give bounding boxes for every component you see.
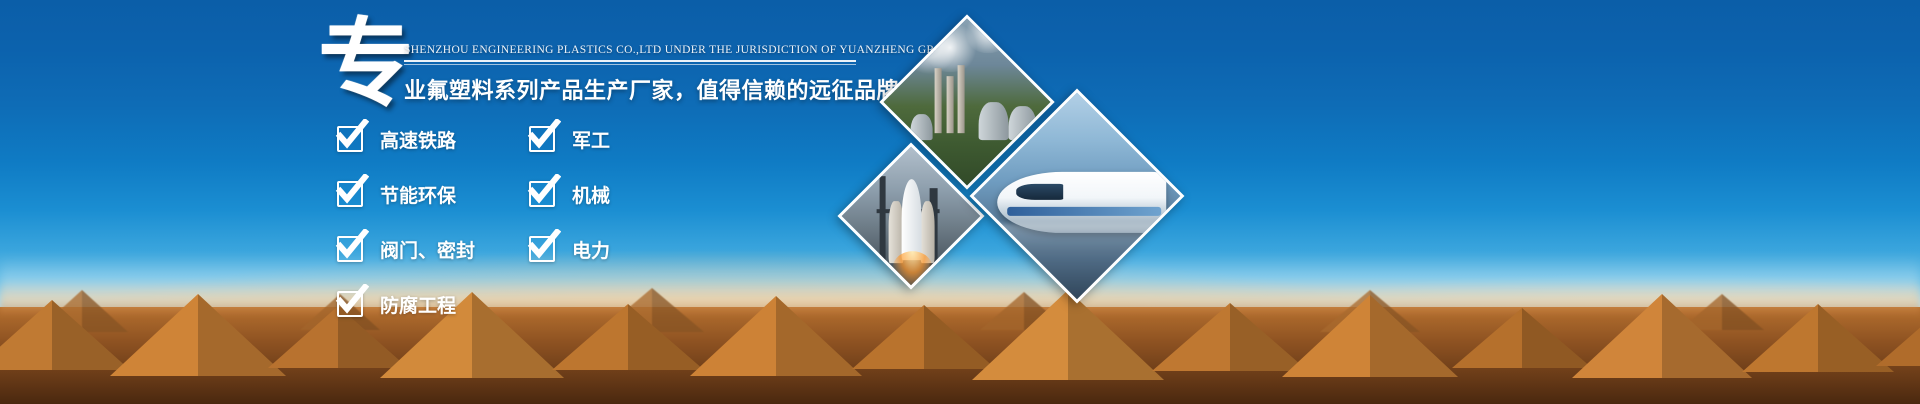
list-item-label: 阀门、密封	[380, 236, 475, 263]
desert-ground	[0, 307, 1920, 404]
list-item[interactable]: 军工	[529, 122, 610, 156]
checklist-column-right: 军工 机械 电力	[529, 122, 610, 287]
list-item[interactable]: 高速铁路	[337, 122, 475, 156]
list-item-label: 电力	[572, 236, 610, 263]
list-item[interactable]: 防腐工程	[337, 287, 475, 321]
list-item-label: 军工	[572, 126, 610, 153]
list-item-label: 节能环保	[380, 181, 456, 208]
list-item-label: 高速铁路	[380, 126, 456, 153]
checkbox-checked-icon[interactable]	[337, 236, 363, 262]
checklist-column-left: 高速铁路 节能环保 阀门、密封	[337, 122, 475, 342]
checkbox-checked-icon[interactable]	[529, 181, 555, 207]
list-item[interactable]: 节能环保	[337, 177, 475, 211]
list-item-label: 机械	[572, 181, 610, 208]
photo-diamond-group	[825, 16, 1225, 306]
promotional-banner: 专 SHENZHOU ENGINEERING PLASTICS CO.,LTD …	[0, 0, 1920, 404]
list-item-label: 防腐工程	[380, 291, 456, 318]
rule-line-bottom	[404, 64, 856, 65]
checkbox-checked-icon[interactable]	[337, 291, 363, 317]
list-item[interactable]: 机械	[529, 177, 610, 211]
checkbox-checked-icon[interactable]	[337, 181, 363, 207]
checkbox-checked-icon[interactable]	[529, 236, 555, 262]
list-item[interactable]: 阀门、密封	[337, 232, 475, 266]
double-rule-divider	[404, 60, 856, 65]
list-item[interactable]: 电力	[529, 232, 610, 266]
rule-line-top	[404, 60, 856, 62]
checkbox-checked-icon[interactable]	[529, 126, 555, 152]
checkbox-checked-icon[interactable]	[337, 126, 363, 152]
